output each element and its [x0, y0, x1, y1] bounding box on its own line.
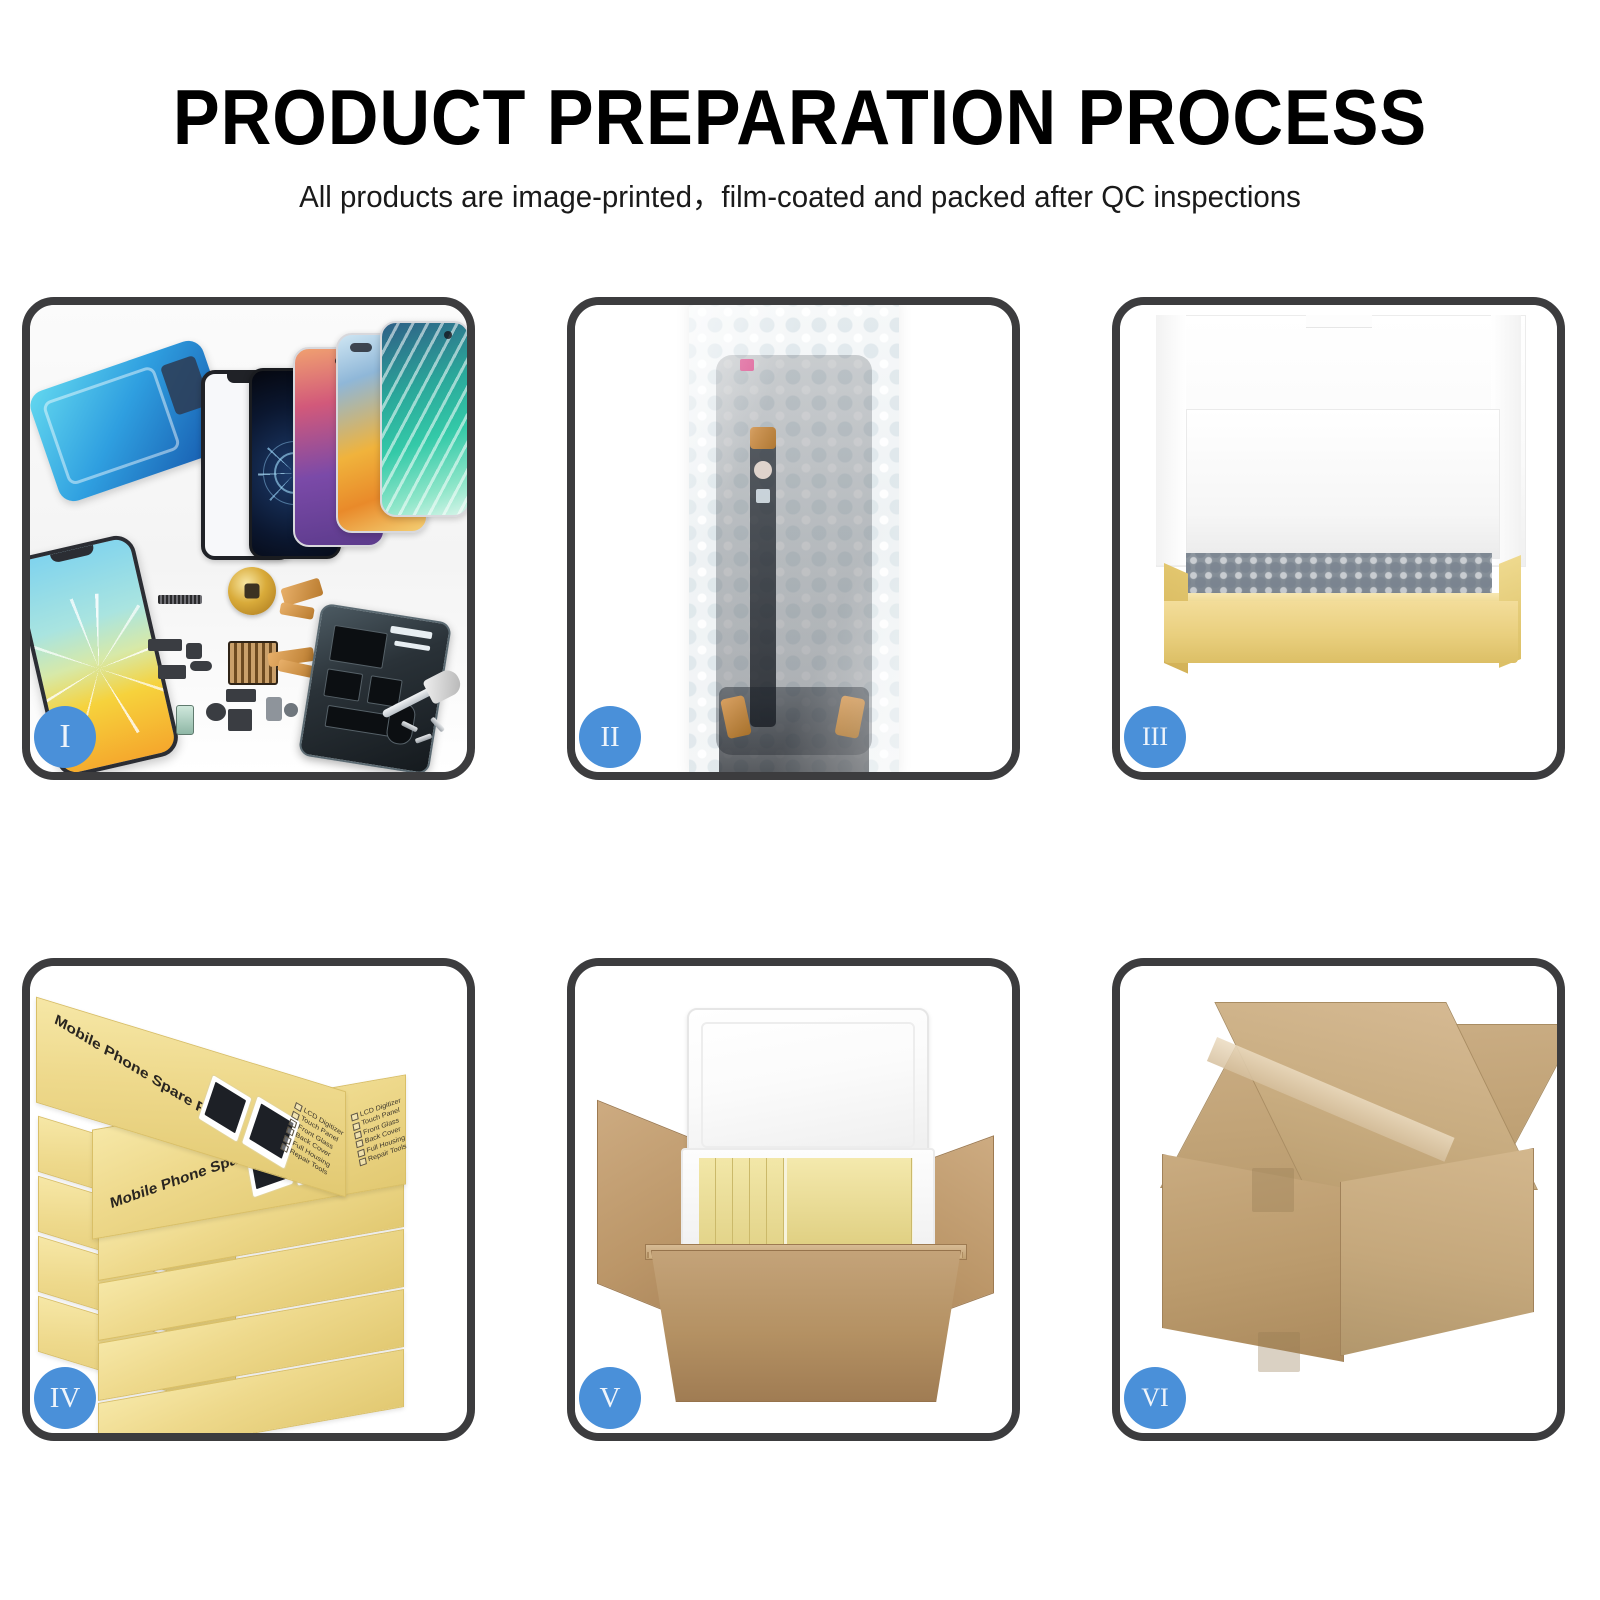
step-badge-3: III [1124, 706, 1186, 768]
step-3-image [1120, 305, 1557, 772]
small-part-icon [148, 639, 182, 651]
sim-tray-icon [176, 705, 194, 735]
step-card-2: II [567, 297, 1020, 780]
step-card-5: V [567, 958, 1020, 1441]
small-part-icon [226, 689, 256, 702]
step-badge-4: IV [34, 1367, 96, 1429]
step-card-6: VI [1112, 958, 1565, 1441]
small-part-icon [228, 709, 252, 731]
step-1-image [30, 305, 467, 772]
retail-box-stack: Mobile Phone Spare Parts LCD Digitizer T… [36, 1000, 467, 1430]
flex-cable-icon [279, 602, 315, 620]
step-card-3: III [1112, 297, 1565, 780]
earpiece-speaker-icon [158, 595, 202, 604]
step-card-1: I [22, 297, 475, 780]
header: PRODUCT PREPARATION PROCESS All products… [0, 0, 1600, 214]
retail-box-screen-image [199, 1075, 252, 1142]
small-part-icon [186, 643, 202, 659]
small-part-icon [266, 697, 282, 721]
carton-flap-tab-icon [1258, 1332, 1300, 1372]
step-badge-6: VI [1124, 1367, 1186, 1429]
white-foam-sheet-icon [1186, 409, 1500, 559]
retail-box-checklist: LCD Digitizer Touch Panel Front Glass Ba… [350, 1096, 409, 1167]
step-6-image [1120, 966, 1557, 1433]
small-part-icon [158, 665, 186, 679]
carton-flap-tab-icon [1252, 1168, 1294, 1212]
step-2-image [575, 305, 1012, 772]
box-lid-notch-icon [1306, 315, 1372, 328]
carton-front-icon [651, 1250, 961, 1402]
small-part-icon [206, 703, 226, 721]
step-5-image [575, 966, 1012, 1433]
small-part-icon [190, 661, 212, 671]
foam-cooler-lid-icon [687, 1008, 929, 1162]
box-lid-flap-icon [1156, 315, 1186, 565]
pink-qc-label-icon [740, 359, 754, 371]
infographic-page: PRODUCT PREPARATION PROCESS All products… [0, 0, 1600, 1600]
carton-side-face-icon [1340, 1148, 1534, 1356]
step-4-image: Mobile Phone Spare Parts LCD Digitizer T… [30, 966, 467, 1433]
process-step-grid: I II [22, 297, 1578, 1441]
teal-phone-icon [380, 321, 467, 517]
step-badge-1: I [34, 706, 96, 768]
wireless-coil-icon [228, 567, 276, 615]
step-badge-5: V [579, 1367, 641, 1429]
bubble-wrap-bag-icon [689, 305, 899, 772]
screwdriver-bits-icon [401, 720, 451, 754]
box-tray-front-icon [1164, 601, 1518, 663]
step-badge-2: II [579, 706, 641, 768]
page-title: PRODUCT PREPARATION PROCESS [80, 78, 1520, 156]
connector-icon [750, 427, 776, 449]
step-card-4: Mobile Phone Spare Parts LCD Digitizer T… [22, 958, 475, 1441]
retail-box-checklist: LCD Digitizer Touch Panel Front Glass Ba… [280, 1101, 345, 1179]
page-subtitle: All products are image-printed，film-coat… [40, 180, 1560, 214]
ic-chip-icon [756, 489, 770, 503]
packed-retail-boxes-icon [699, 1158, 913, 1244]
home-button-icon [754, 461, 772, 479]
small-part-icon [284, 703, 298, 717]
